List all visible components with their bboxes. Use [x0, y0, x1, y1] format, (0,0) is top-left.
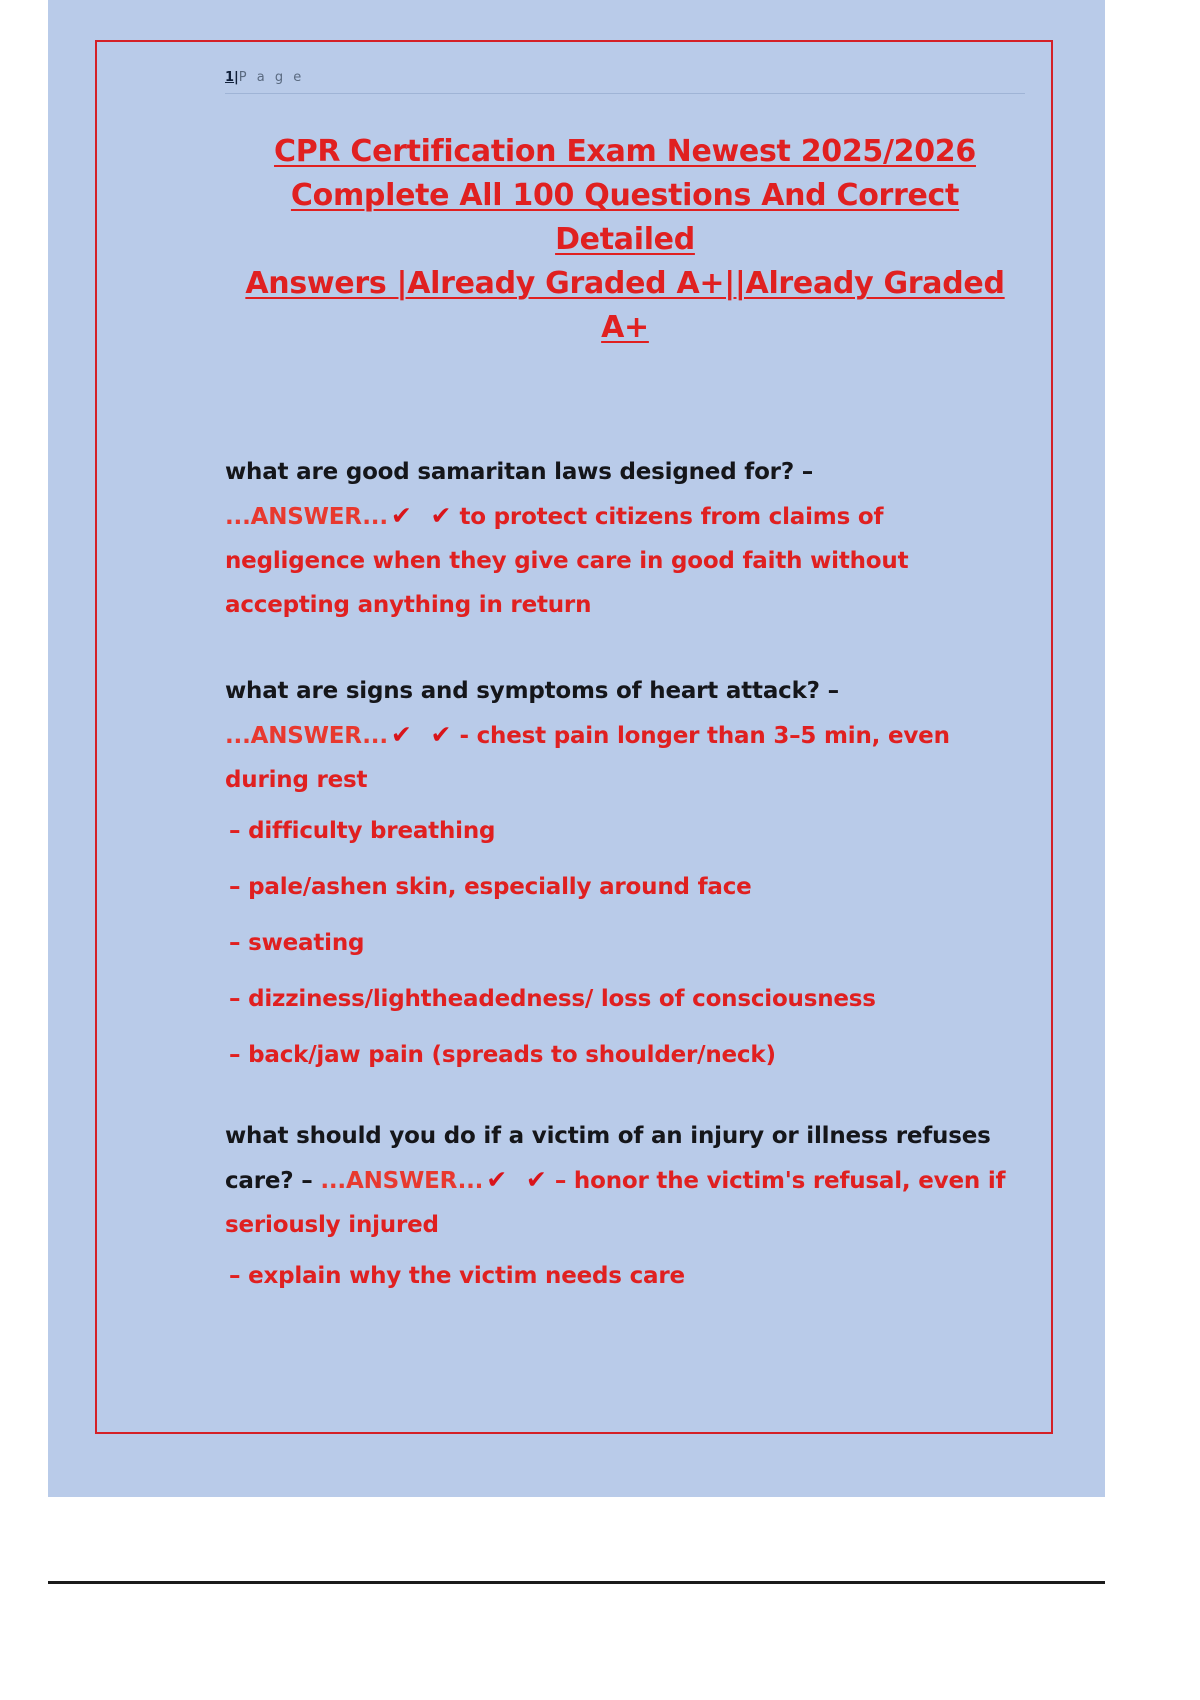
bullet-item: – sweating: [225, 926, 1025, 960]
question-text: what are good samaritan laws designed fo…: [225, 459, 813, 485]
check-mark-icon: ✔ ✔: [483, 1165, 555, 1194]
page-border-frame: 1|P a g e CPR Certification Exam Newest …: [95, 40, 1053, 1434]
qa-body: what are signs and symptoms of heart att…: [225, 669, 1025, 802]
running-header: 1|P a g e: [225, 70, 1025, 94]
bullet-item: – difficulty breathing: [225, 814, 1025, 848]
header-page-label: P a g e: [239, 70, 304, 85]
qa-block: what are signs and symptoms of heart att…: [225, 669, 1025, 1072]
next-page-edge: [48, 1581, 1105, 1700]
title-line-3: Answers |Already Graded A+||Already Grad…: [225, 262, 1025, 350]
qa-list: what are good samaritan laws designed fo…: [225, 450, 1025, 1293]
check-mark-icon: ✔ ✔: [388, 720, 460, 749]
header-page-number: 1: [225, 70, 234, 85]
answer-label: ...ANSWER...: [225, 504, 388, 530]
answer-label: ...ANSWER...: [225, 723, 388, 749]
bullet-item: – dizziness/lightheadedness/ loss of con…: [225, 982, 1025, 1016]
title-line-1: CPR Certification Exam Newest 2025/2026: [225, 130, 1025, 174]
bullet-item: – explain why the victim needs care: [225, 1259, 1025, 1293]
title-line-2: Complete All 100 Questions And Correct D…: [225, 174, 1025, 262]
answer-bullets: – explain why the victim needs care: [225, 1259, 1025, 1293]
qa-body: what are good samaritan laws designed fo…: [225, 450, 1025, 627]
qa-body: what should you do if a victim of an inj…: [225, 1114, 1025, 1247]
page-content: 1|P a g e CPR Certification Exam Newest …: [225, 70, 1025, 1335]
check-mark-icon: ✔ ✔: [388, 501, 460, 530]
answer-bullets: – difficulty breathing – pale/ashen skin…: [225, 814, 1025, 1072]
qa-block: what should you do if a victim of an inj…: [225, 1114, 1025, 1293]
answer-label: ...ANSWER...: [320, 1168, 483, 1194]
qa-block: what are good samaritan laws designed fo…: [225, 450, 1025, 627]
page-title: CPR Certification Exam Newest 2025/2026 …: [225, 130, 1025, 350]
bullet-item: – back/jaw pain (spreads to shoulder/nec…: [225, 1038, 1025, 1072]
document-page: 1|P a g e CPR Certification Exam Newest …: [48, 0, 1105, 1497]
question-text: what are signs and symptoms of heart att…: [225, 678, 839, 704]
bullet-item: – pale/ashen skin, especially around fac…: [225, 870, 1025, 904]
